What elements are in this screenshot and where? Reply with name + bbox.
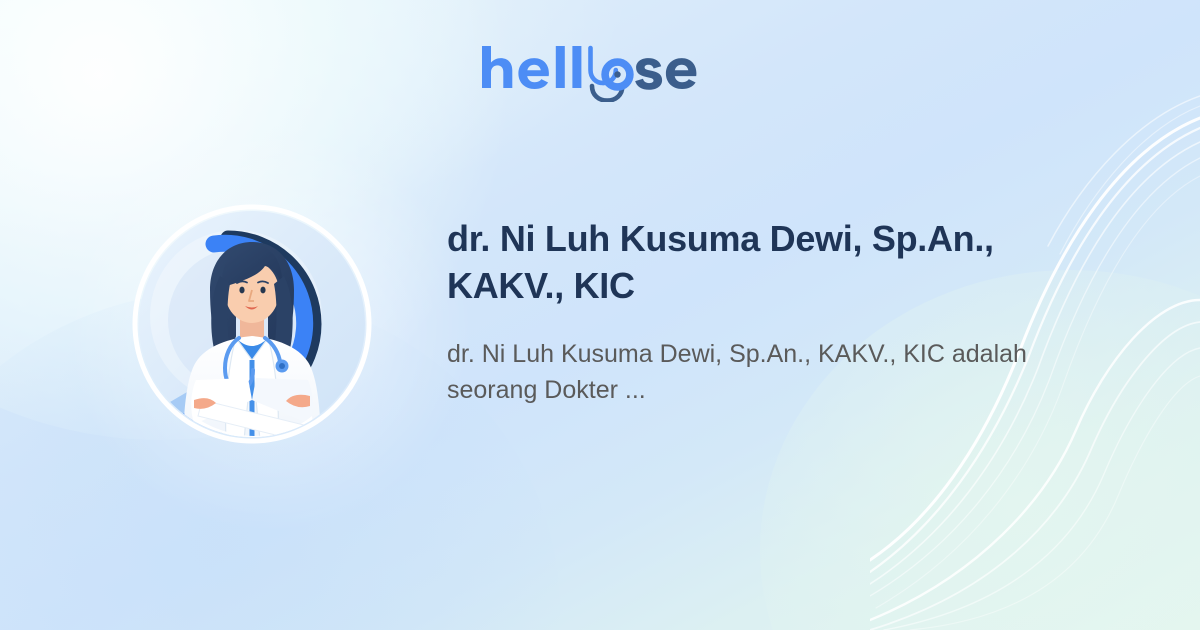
- hellosehat-logo-icon[interactable]: [480, 40, 720, 102]
- page-title: dr. Ni Luh Kusuma Dewi, Sp.An., KAKV., K…: [447, 216, 1057, 310]
- card-text-column: dr. Ni Luh Kusuma Dewi, Sp.An., KAKV., K…: [447, 216, 1057, 408]
- og-card: dr. Ni Luh Kusuma Dewi, Sp.An., KAKV., K…: [0, 0, 1200, 630]
- doctor-avatar: [132, 204, 372, 444]
- eye-right: [260, 287, 265, 294]
- eye-left: [239, 287, 244, 294]
- page-description: dr. Ni Luh Kusuma Dewi, Sp.An., KAKV., K…: [447, 336, 1027, 409]
- brand-logo[interactable]: [0, 40, 1200, 102]
